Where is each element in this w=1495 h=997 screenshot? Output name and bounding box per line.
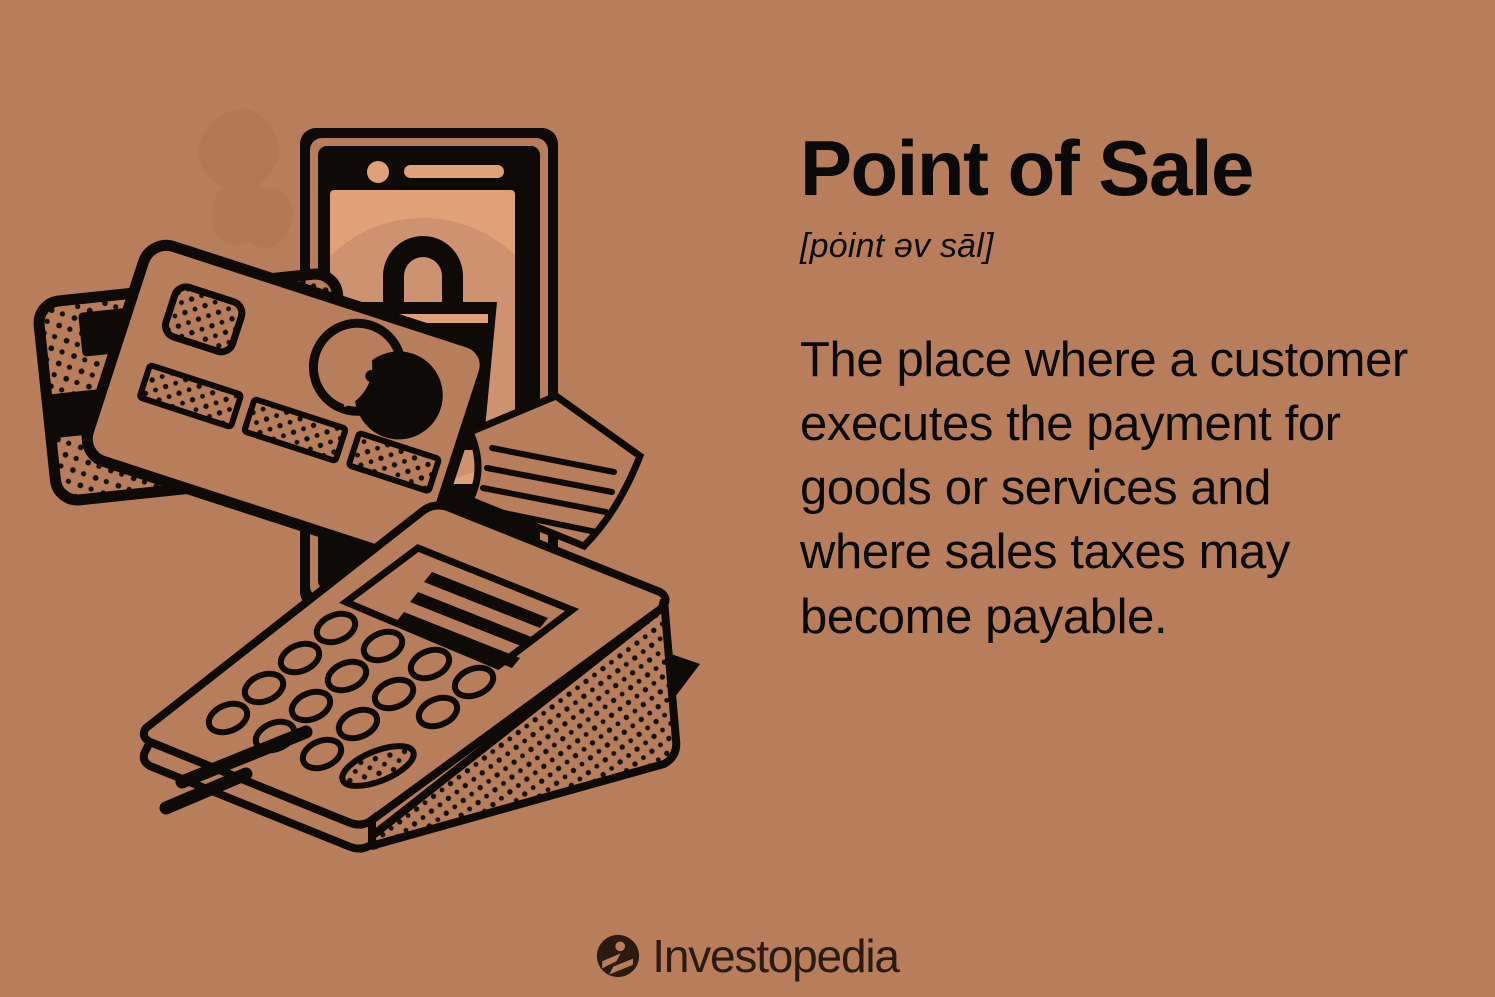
infographic-card: Point of Sale [pȯint əv sāl] The place w… <box>0 0 1495 997</box>
brand-footer: Investopedia <box>0 933 1495 979</box>
pronunciation-text: [pȯint əv sāl] <box>800 228 1440 265</box>
card-payment-terminal <box>144 505 677 848</box>
definition-block: Point of Sale [pȯint əv sāl] The place w… <box>800 130 1440 649</box>
point-of-sale-illustration <box>0 80 770 870</box>
page-title: Point of Sale <box>800 130 1440 206</box>
phone-speaker-slot <box>404 165 504 178</box>
investopedia-i-mark-icon <box>596 934 640 978</box>
brand-name: Investopedia <box>652 933 898 979</box>
background-watermark-smudge <box>199 109 293 248</box>
phone-camera-dot <box>367 161 389 183</box>
definition-text: The place where a customer executes the … <box>800 328 1415 649</box>
